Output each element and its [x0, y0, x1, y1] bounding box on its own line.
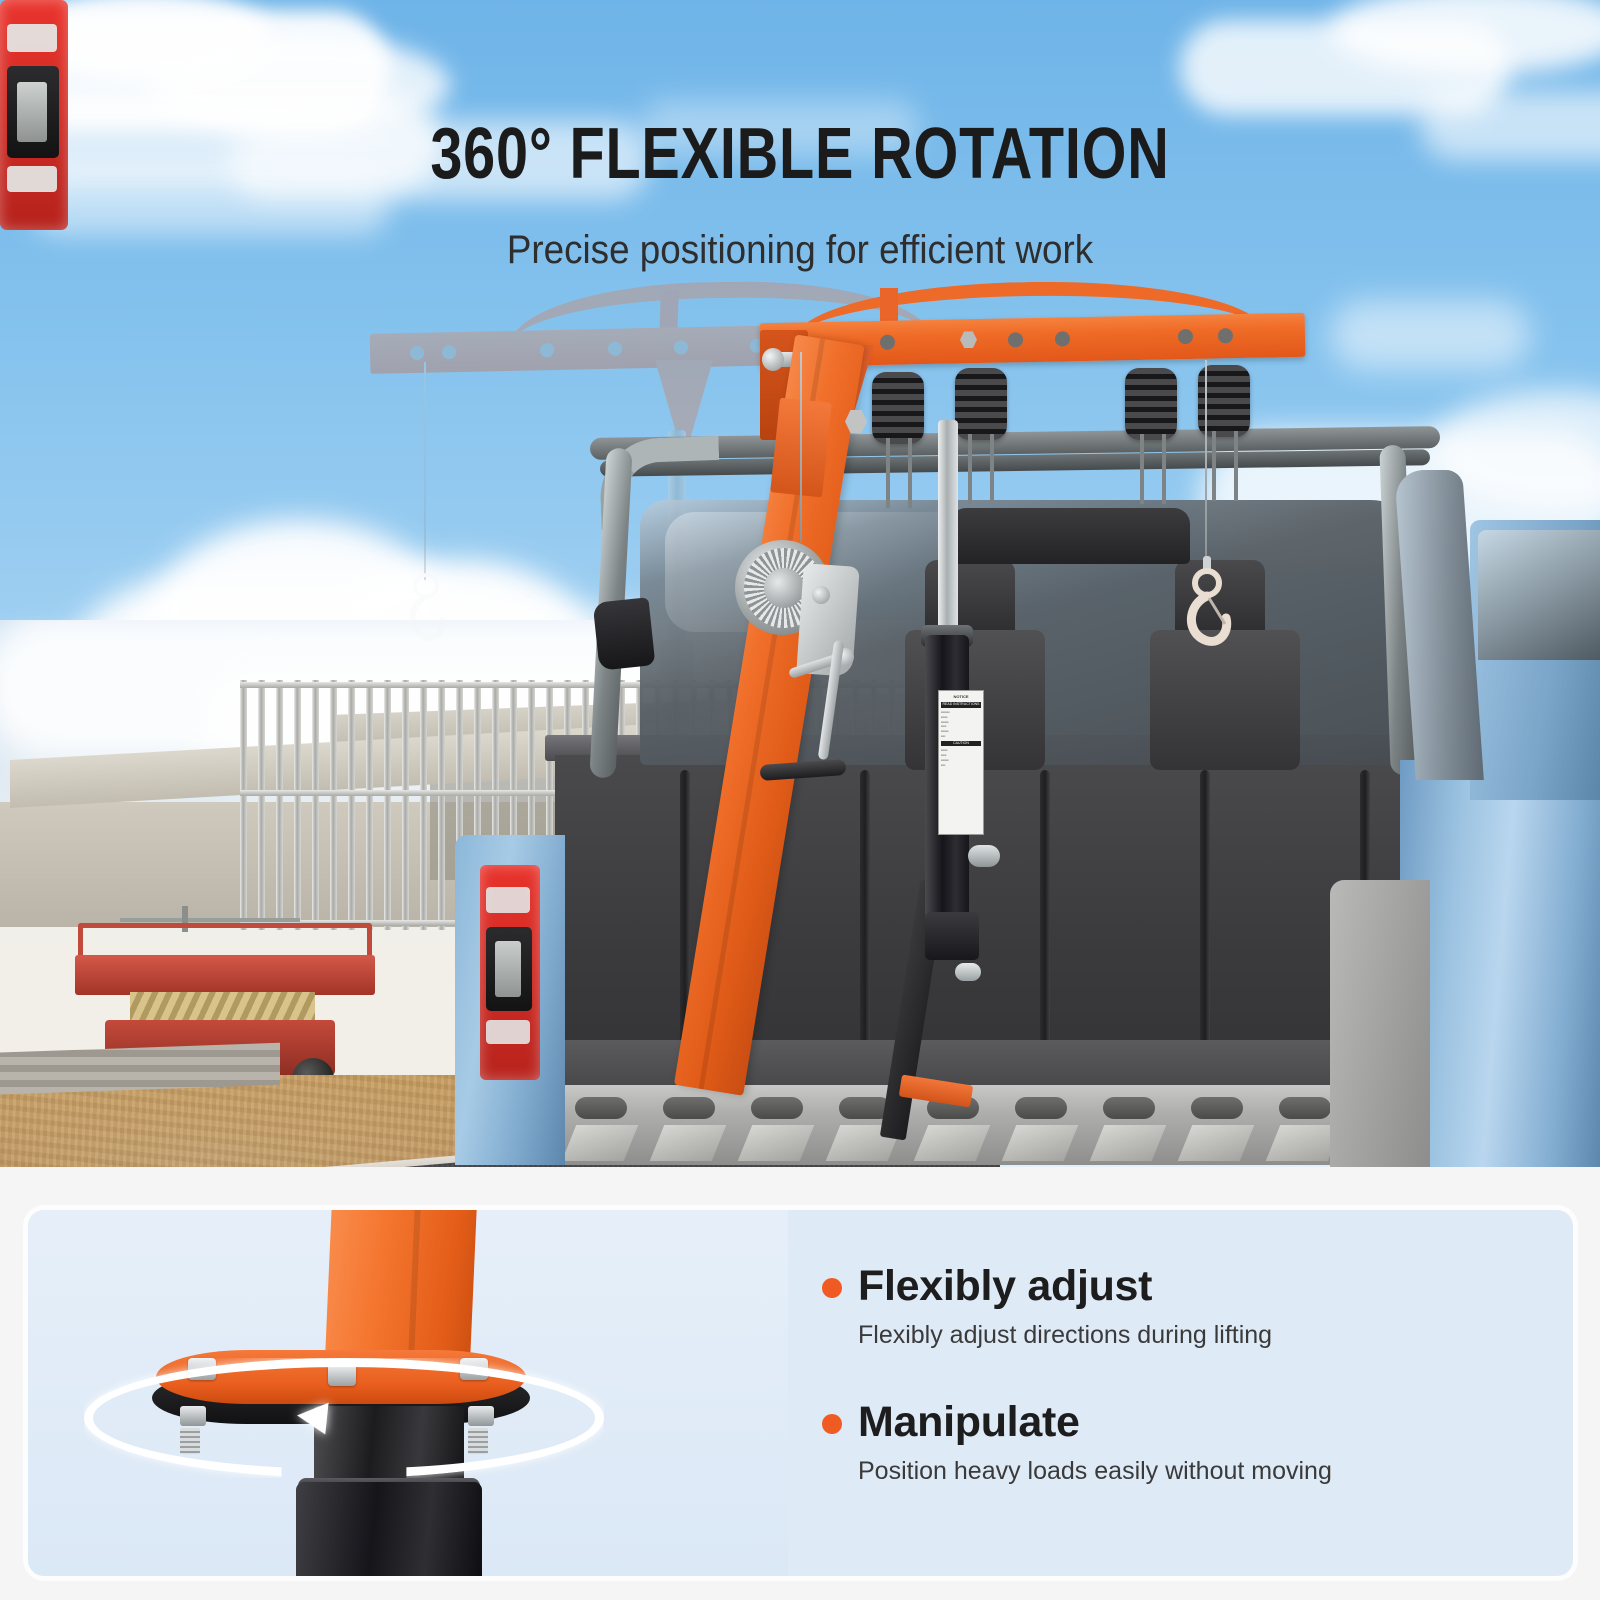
feature-item-2: Manipulate	[822, 1398, 1573, 1447]
features-list: Flexibly adjust Flexibly adjust directio…	[788, 1210, 1573, 1576]
ram-base-mount	[925, 912, 979, 960]
pulley-leg	[1140, 434, 1144, 504]
boom-hole	[1178, 329, 1193, 344]
pulley-leg	[990, 434, 994, 504]
feature-item-1: Flexibly adjust	[822, 1262, 1573, 1311]
pulley-leg	[1162, 434, 1166, 504]
pulley-leg	[908, 438, 912, 508]
mast-bolt	[955, 963, 981, 981]
pulley-leg	[1212, 431, 1216, 501]
boom-bolt	[960, 331, 977, 348]
pivot-bolt-head	[762, 348, 784, 371]
hydraulic-ram-rod	[938, 420, 958, 650]
warning-label: NOTICE READ INSTRUCTIONS ▪▪▪▪▪▪▪▪▪▪▪▪▪▪▪…	[938, 690, 984, 835]
pulley-leg	[968, 434, 972, 504]
boom-hole	[1008, 332, 1023, 347]
warning-label-caution: CAUTION	[941, 741, 981, 747]
bullet-dot-icon	[822, 1414, 842, 1434]
feature-1-subtitle: Flexibly adjust directions during liftin…	[858, 1319, 1573, 1352]
features-panel: Flexibly adjust Flexibly adjust directio…	[28, 1210, 1573, 1576]
winch-cable	[800, 352, 802, 542]
pulley-leg	[1234, 431, 1238, 501]
hoist-cable	[1205, 360, 1207, 560]
post-sleeve	[296, 1482, 482, 1576]
hero-title: 360° FLEXIBLE ROTATION	[160, 113, 1440, 195]
ram-pivot-pin	[968, 845, 1000, 867]
pulley-leg	[886, 438, 890, 508]
winch-bolt	[812, 586, 830, 604]
boom-hole	[880, 335, 895, 350]
warning-label-lines-2: ▪▪▪▪▪▪▪▪▪▪▪▪▪▪▪▪▪▪▪▪▪▪	[941, 748, 948, 766]
warning-label-band: READ INSTRUCTIONS	[941, 702, 981, 708]
feature-spacer	[822, 1352, 1573, 1398]
boom-hole	[1055, 331, 1070, 346]
pulley-block	[955, 368, 1007, 440]
warning-label-lines: ▪▪▪▪▪▪▪▪▪▪▪▪▪▪▪▪▪▪▪▪▪▪▪▪▪▪▪▪▪▪▪▪▪▪▪▪▪	[941, 710, 950, 738]
warning-label-heading: NOTICE	[941, 694, 981, 700]
bullet-dot-icon	[822, 1278, 842, 1298]
boom-hole	[1218, 328, 1233, 343]
crane-mast	[674, 334, 865, 1095]
rotating-base-photo	[28, 1210, 788, 1576]
lifting-hook-icon	[1178, 556, 1236, 652]
pulley-block	[1125, 368, 1177, 440]
feature-2-subtitle: Position heavy loads easily without movi…	[858, 1455, 1573, 1488]
winch-hub	[764, 568, 804, 608]
hero-image: NOTICE READ INSTRUCTIONS ▪▪▪▪▪▪▪▪▪▪▪▪▪▪▪…	[0, 0, 1600, 1167]
rotation-arrow-head-icon	[295, 1400, 328, 1435]
feature-1-title: Flexibly adjust	[858, 1262, 1152, 1311]
rotation-base-photo-area	[28, 1210, 788, 1576]
hero-subtitle: Precise positioning for efficient work	[64, 228, 1536, 273]
pulley-block	[872, 372, 924, 444]
feature-2-title: Manipulate	[858, 1398, 1080, 1447]
